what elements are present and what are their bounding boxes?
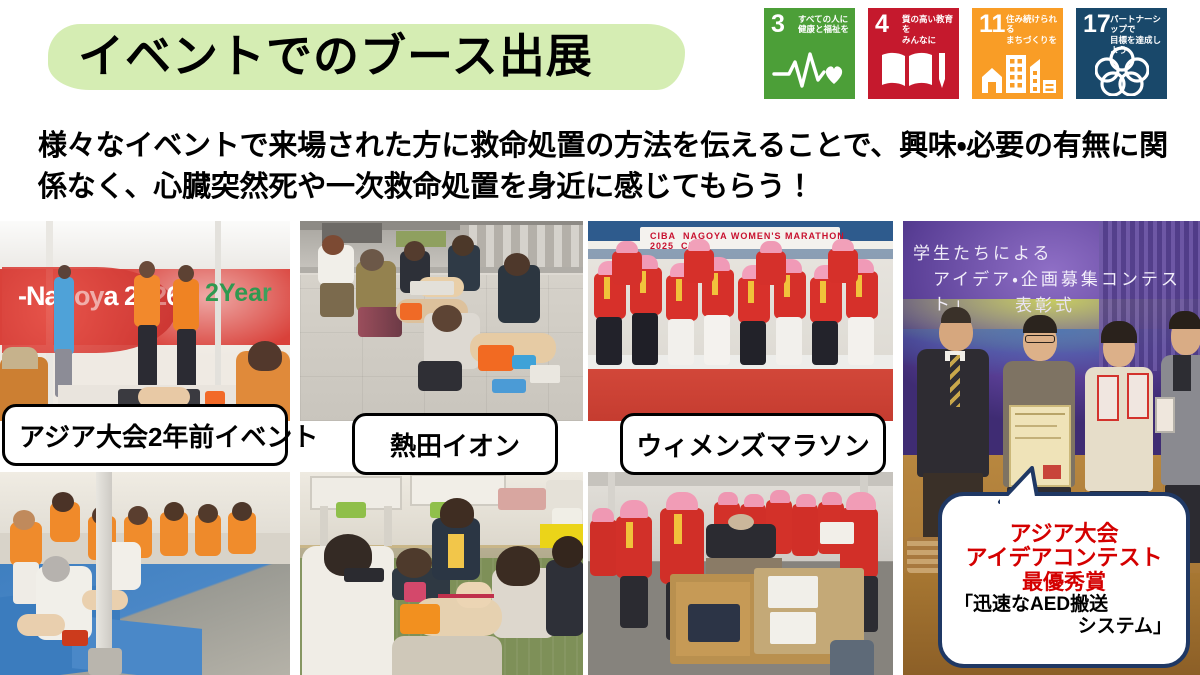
sdg-icon-17: 17 パートナーシップで目標を達成しよう [1076,8,1167,99]
slide-root: イベントでのブース出展 3 すべての人に健康と福祉を 4 質の高い教育をみんなに [0,0,1200,675]
award-line-3: 最優秀賞 [1022,571,1106,595]
asia-games-event-photo: -Nagoya 2026 2Year [0,221,290,421]
award-speech-bubble: アジア大会 アイデアコンテスト 最優秀賞 「迅速なAED搬送 システム」 [938,492,1190,668]
caption-atsuta-aeon: 熱田イオン [352,413,558,475]
heartbeat-pulse-icon [764,47,855,95]
sdg-label: 住み続けられるまちづくりを [1006,15,1060,46]
marathon-briefing-photo [588,472,893,675]
sdg-icon-4: 4 質の高い教育をみんなに [868,8,959,99]
womens-marathon-photo: CIBA NAGOYA WOMEN'S MARATHON 2025 CIBA [588,221,893,421]
open-book-pencil-icon [868,47,959,95]
atsuta-aeon-photo [300,221,583,421]
sdg-number: 3 [771,12,785,37]
page-title: イベントでのブース出展 [48,18,593,94]
caption-asia-games: アジア大会2年前イベント [2,404,288,466]
caption-label: 熱田イオン [390,426,520,463]
body-paragraph: 様々なイベントで来場された方に救命処置の方法を伝えることで、興味・必要の有無に関… [38,126,1178,208]
sdg-label: 質の高い教育をみんなに [902,15,956,46]
sdg-label: すべての人に健康と福祉を [798,15,852,36]
award-line-1: アジア大会 [1009,522,1118,547]
award-line-4: 「迅速なAED搬送 [950,594,1178,616]
sdg-icon-3: 3 すべての人に健康と福祉を [764,8,855,99]
caption-label: アジア大会2年前イベント [19,417,318,454]
speech-bubble-tail [980,464,1040,498]
title-text: イベントでのブース出展 [48,33,593,79]
classroom-cpr-photo [300,472,583,675]
sdg-icon-row: 3 すべての人に健康と福祉を 4 質の高い教育をみんなに [764,8,1167,99]
caption-womens-marathon: ウィメンズマラソン [620,413,886,475]
sdg-number: 4 [875,12,889,37]
interlocking-circles-icon [1076,47,1167,95]
sdg-number: 17 [1083,12,1111,37]
award-line-2: アイデアコンテスト [966,546,1163,571]
sdg-number: 11 [979,12,1005,37]
award-line-5: システム」 [950,616,1178,638]
caption-label: ウィメンズマラソン [636,426,869,463]
sdg-icon-11: 11 住み続けられるまちづくりを [972,8,1063,99]
city-buildings-icon [972,47,1063,95]
tent-cpr-training-photo [0,472,290,675]
